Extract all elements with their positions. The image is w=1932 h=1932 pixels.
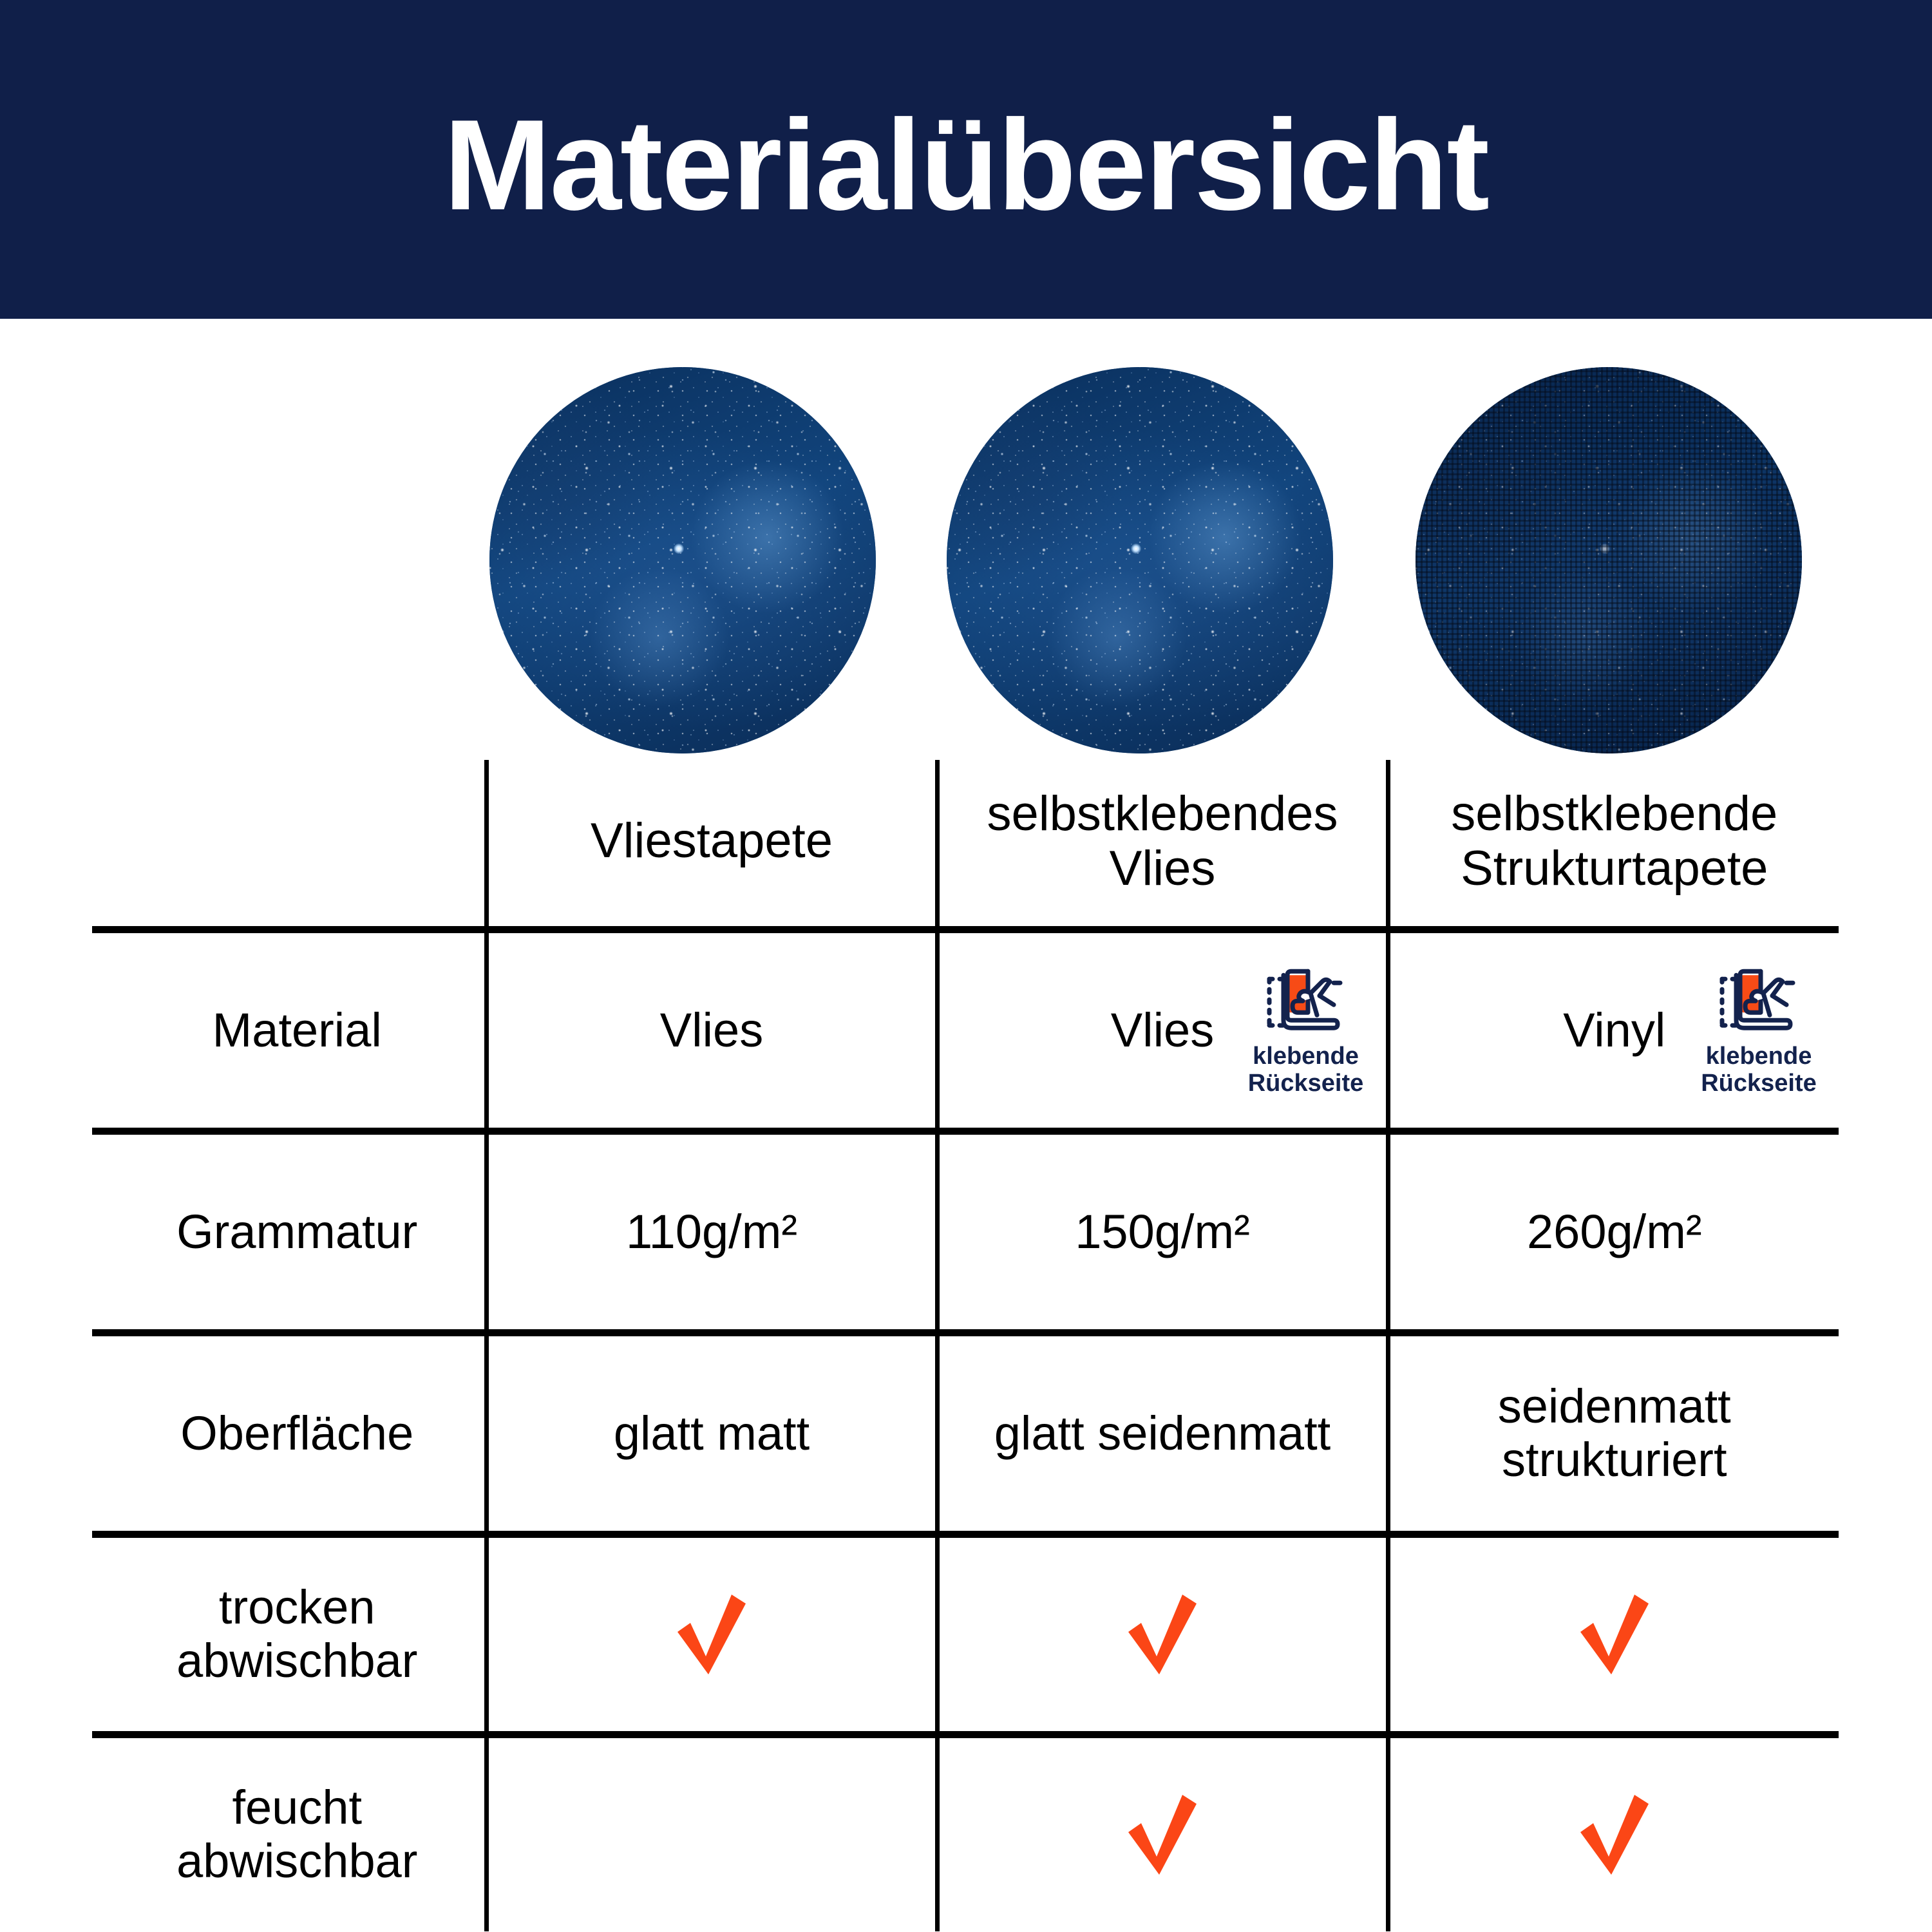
table-row: feucht abwischbar bbox=[92, 1735, 1839, 1932]
cell-grammatur-selbstklebende-strukturtapete: 260g/m² bbox=[1388, 1132, 1839, 1333]
sample-circle-vliestapete bbox=[489, 367, 876, 753]
row-label-feucht-abwischbar: feucht abwischbar bbox=[92, 1735, 486, 1932]
cell-feucht-abwischbar-vliestapete bbox=[486, 1735, 937, 1932]
row-label-trocken-abwischbar: trocken abwischbar bbox=[92, 1535, 486, 1735]
header-cell-empty bbox=[92, 760, 486, 930]
cell-value: Vlies bbox=[660, 1004, 763, 1057]
sticky-back-badge-label: klebendeRückseite bbox=[1701, 1043, 1817, 1097]
sticky-back-badge-label: klebendeRückseite bbox=[1248, 1043, 1364, 1097]
cell-value: Vinyl bbox=[1563, 1004, 1665, 1057]
checkmark-icon bbox=[1114, 1790, 1211, 1880]
column-header-selbstklebendes-vlies: selbstklebendes Vlies bbox=[937, 760, 1388, 930]
row-label-grammatur: Grammatur bbox=[92, 1132, 486, 1333]
cell-material-selbstklebende-strukturtapete: Vinyl bbox=[1388, 930, 1839, 1132]
cell-grammatur-selbstklebendes-vlies: 150g/m² bbox=[937, 1132, 1388, 1333]
table-row: Material Vlies Vlies bbox=[92, 930, 1839, 1132]
row-label-material: Material bbox=[92, 930, 486, 1132]
cell-oberflaeche-selbstklebendes-vlies: glatt seidenmatt bbox=[937, 1333, 1388, 1535]
column-header-vliestapete: Vliestapete bbox=[486, 760, 937, 930]
cell-material-selbstklebendes-vlies: Vlies bbox=[937, 930, 1388, 1132]
cell-value: Vlies bbox=[1111, 1004, 1214, 1057]
star-layer-large-icon bbox=[947, 367, 1333, 753]
texture-shading-overlay bbox=[1416, 367, 1802, 753]
cell-trocken-abwischbar-selbstklebende-strukturtapete bbox=[1388, 1535, 1839, 1735]
star-layer-large-icon bbox=[489, 367, 876, 753]
table-header-row: Vliestapete selbstklebendes Vlies selbst… bbox=[92, 760, 1839, 930]
material-comparison-table: Vliestapete selbstklebendes Vlies selbst… bbox=[92, 760, 1839, 1931]
page-title: Materialübersicht bbox=[444, 101, 1488, 230]
checkmark-icon bbox=[663, 1589, 760, 1680]
cell-oberflaeche-vliestapete: glatt matt bbox=[486, 1333, 937, 1535]
table-row: Grammatur 110g/m² 150g/m² 260g/m² bbox=[92, 1132, 1839, 1333]
cell-grammatur-vliestapete: 110g/m² bbox=[486, 1132, 937, 1333]
cell-material-vliestapete: Vlies bbox=[486, 930, 937, 1132]
sample-circle-selbstklebendes-vlies bbox=[947, 367, 1333, 753]
cell-feucht-abwischbar-selbstklebendes-vlies bbox=[937, 1735, 1388, 1932]
checkmark-icon bbox=[1566, 1790, 1663, 1880]
peel-sticker-icon bbox=[1710, 963, 1807, 1041]
sticky-back-badge: klebendeRückseite bbox=[1231, 963, 1381, 1097]
bright-star-icon bbox=[1131, 544, 1141, 554]
checkmark-icon bbox=[1566, 1589, 1663, 1680]
cell-feucht-abwischbar-selbstklebende-strukturtapete bbox=[1388, 1735, 1839, 1932]
table-row: Oberfläche glatt matt glatt seidenmatt s… bbox=[92, 1333, 1839, 1535]
table-row: trocken abwischbar bbox=[92, 1535, 1839, 1735]
sticky-back-badge: klebendeRückseite bbox=[1684, 963, 1833, 1097]
header-banner: Materialübersicht bbox=[0, 0, 1932, 319]
checkmark-icon bbox=[1114, 1589, 1211, 1680]
sample-previews bbox=[0, 367, 1932, 760]
row-label-oberflaeche: Oberfläche bbox=[92, 1333, 486, 1535]
cell-trocken-abwischbar-selbstklebendes-vlies bbox=[937, 1535, 1388, 1735]
bright-star-icon bbox=[674, 544, 684, 554]
sample-circle-selbstklebende-strukturtapete bbox=[1416, 367, 1802, 753]
cell-trocken-abwischbar-vliestapete bbox=[486, 1535, 937, 1735]
peel-sticker-icon bbox=[1258, 963, 1354, 1041]
column-header-selbstklebende-strukturtapete: selbstklebende Strukturtapete bbox=[1388, 760, 1839, 930]
cell-oberflaeche-selbstklebende-strukturtapete: seidenmatt strukturiert bbox=[1388, 1333, 1839, 1535]
